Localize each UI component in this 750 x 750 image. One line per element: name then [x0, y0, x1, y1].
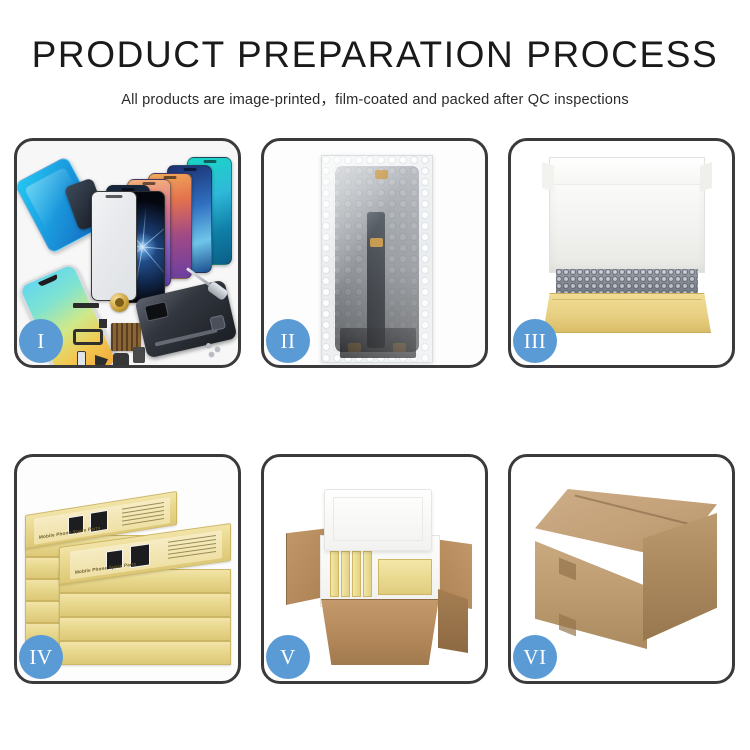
phone-screen-fan-icon: [91, 155, 238, 280]
frame-bracket-icon: [73, 329, 103, 345]
white-box-lid-icon: [549, 157, 705, 273]
carton-front-face: [535, 541, 647, 649]
page-title: PRODUCT PREPARATION PROCESS: [0, 34, 750, 76]
yellow-boxes-inside-icon: [330, 551, 432, 601]
step-4-numeral-badge: IV: [19, 635, 63, 679]
page-header: PRODUCT PREPARATION PROCESS All products…: [0, 0, 750, 109]
sealed-carton-icon: [535, 489, 717, 651]
small-part-3-icon: [133, 347, 145, 363]
step-2-numeral-badge: II: [266, 319, 310, 363]
page-subtitle: All products are image-printed，film-coat…: [0, 88, 750, 109]
step-card-2: II: [261, 138, 488, 368]
step-3-numeral-badge: III: [513, 319, 557, 363]
tempered-glass-icon: [91, 191, 137, 301]
sim-tray-icon: [77, 351, 86, 365]
step-card-5: V: [261, 454, 488, 684]
speaker-bar-icon: [73, 303, 99, 308]
styrofoam-lid-icon: [324, 489, 432, 551]
step-6-numeral-badge: VI: [513, 635, 557, 679]
process-steps-grid: I II III: [14, 138, 736, 684]
carton-front-panel: [316, 599, 444, 665]
kraft-box-base-icon: [543, 293, 711, 333]
open-carton-icon: [286, 479, 472, 669]
carton-side-panel: [438, 589, 468, 653]
small-part-2-icon: [113, 353, 129, 365]
bubble-wrap-bag-icon: [321, 155, 433, 363]
step-1-numeral-badge: I: [19, 319, 63, 363]
step-card-4: Mobile Phone Spare Parts Mobile Phone Sp…: [14, 454, 241, 684]
step-card-3: III: [508, 138, 735, 368]
grey-foam-padding-icon: [556, 269, 698, 297]
step-card-6: VI: [508, 454, 735, 684]
step-5-numeral-badge: V: [266, 635, 310, 679]
step-card-1: I: [14, 138, 241, 368]
screws-icon: [206, 343, 228, 357]
small-part-4-icon: [99, 319, 107, 328]
vibration-motor-icon: [110, 293, 129, 312]
